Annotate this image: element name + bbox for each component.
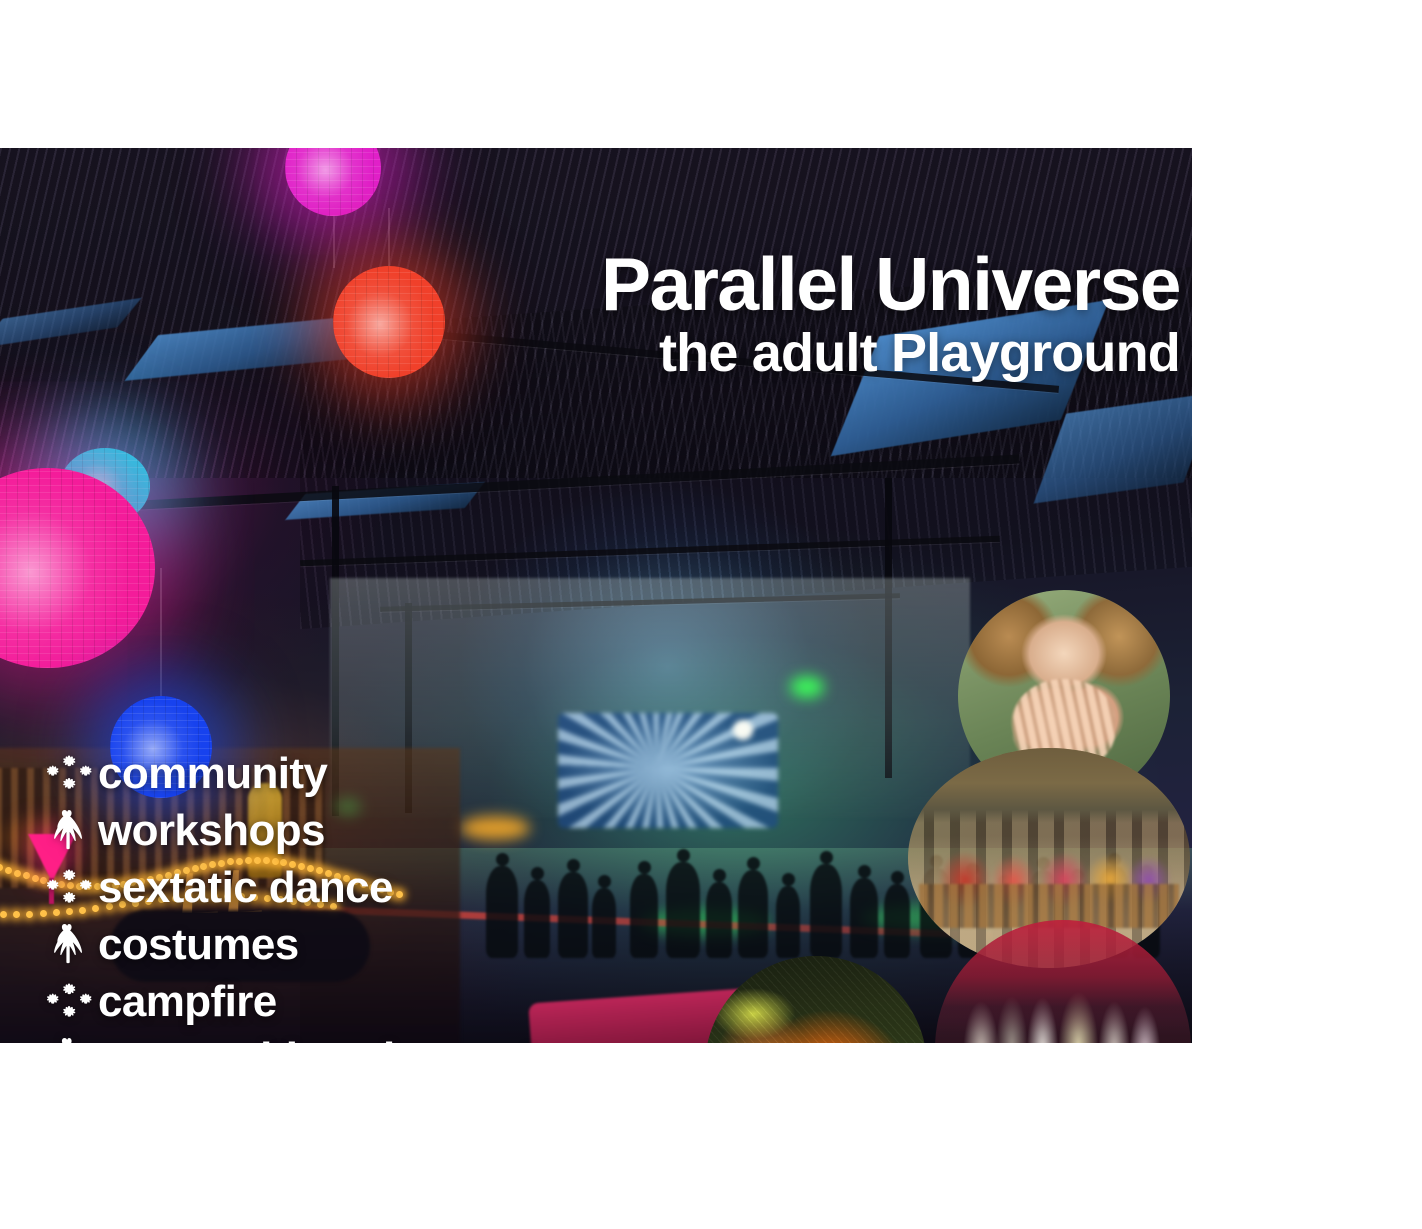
lantern-wire (160, 568, 162, 698)
sparkle-burst-icon (40, 865, 98, 911)
green-stage-light (790, 676, 824, 698)
dancer-silhouette (666, 862, 700, 958)
tent-fan-icon (40, 808, 98, 854)
string-light-bulb (0, 911, 7, 918)
dancer-silhouette (738, 870, 768, 958)
feature-label: workshops (98, 809, 325, 853)
feature-label: campfire (98, 980, 277, 1024)
feature-item: costumes (40, 919, 559, 971)
poster: Parallel Universe the adult Playground c… (0, 148, 1192, 1043)
tent-fan-icon (40, 1036, 98, 1043)
feature-item: sextatic dance (40, 862, 559, 914)
white-spot-light (733, 720, 753, 740)
campfire-image (705, 956, 927, 1043)
dancer-silhouette (776, 886, 800, 958)
dancer-silhouette (630, 874, 658, 958)
feature-item: campfire (40, 976, 559, 1028)
dancer-silhouette (884, 884, 910, 958)
feature-label: sextatic dance (98, 866, 393, 910)
lantern-red (333, 266, 445, 378)
sparkle-burst-icon (40, 979, 98, 1025)
feature-label: costumes (98, 923, 299, 967)
string-light-bulb (14, 870, 21, 877)
gathering-photo (935, 920, 1191, 1043)
feature-item: workshops (40, 805, 559, 857)
dancer-silhouette (850, 878, 878, 958)
feature-item: community (40, 748, 559, 800)
string-light-bulb (26, 911, 33, 918)
string-light-bulb (13, 911, 20, 918)
dancer-silhouette (706, 882, 732, 958)
dancer-silhouette (592, 888, 616, 958)
string-light-bulb (5, 867, 12, 874)
campfire-photo (705, 956, 927, 1043)
sparkle-burst-icon (40, 751, 98, 797)
gathering-image (935, 920, 1191, 1043)
feature-label: community (98, 752, 327, 796)
feature-item: sex-positive play party (40, 1033, 559, 1043)
dancer-silhouette (810, 864, 842, 958)
lantern-wire (388, 208, 390, 268)
string-light-bulb (0, 864, 3, 871)
tent-fan-icon (40, 922, 98, 968)
feature-label: sex-positive play party (98, 1037, 559, 1043)
dancer-silhouette (558, 872, 588, 958)
feature-list: communityworkshopssextatic dancecostumes… (40, 748, 559, 1043)
